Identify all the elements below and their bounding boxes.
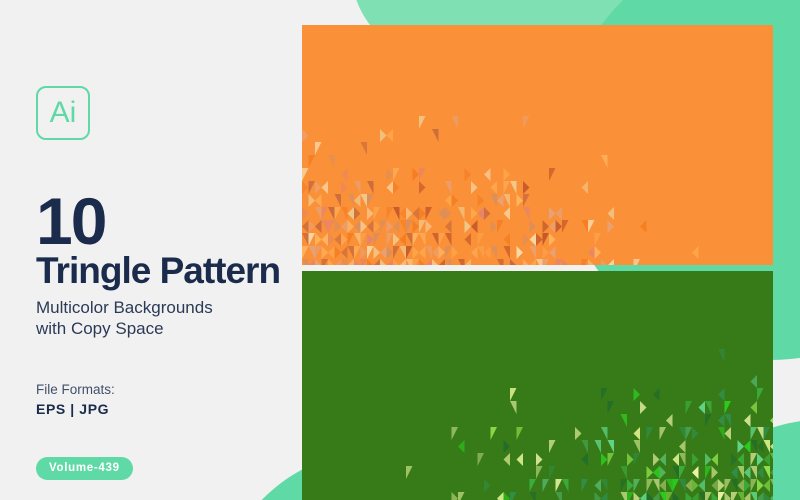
- info-column: Ai 10 Tringle Pattern Multicolor Backgro…: [36, 86, 296, 480]
- file-formats-label: File Formats:: [36, 380, 296, 400]
- page-subtitle-line-2: with Copy Space: [36, 318, 296, 339]
- preview-orange-triangle-pattern: [302, 25, 773, 265]
- page-subtitle-line-1: Multicolor Backgrounds: [36, 297, 296, 318]
- file-formats-value: EPS | JPG: [36, 399, 296, 419]
- preview-green-triangle-pattern: [302, 271, 773, 500]
- page-subtitle: Multicolor Backgrounds with Copy Space: [36, 297, 296, 340]
- volume-badge: Volume-439: [36, 457, 133, 480]
- pattern-count: 10: [36, 192, 296, 250]
- adobe-illustrator-badge-icon: Ai: [36, 86, 90, 140]
- poster-canvas: Ai 10 Tringle Pattern Multicolor Backgro…: [0, 0, 800, 500]
- orange-triangle-mosaic: [302, 25, 773, 265]
- file-formats-block: File Formats: EPS | JPG: [36, 380, 296, 420]
- ai-badge-label: Ai: [50, 98, 77, 128]
- green-triangle-mosaic: [302, 271, 773, 500]
- page-title: Tringle Pattern: [36, 252, 296, 290]
